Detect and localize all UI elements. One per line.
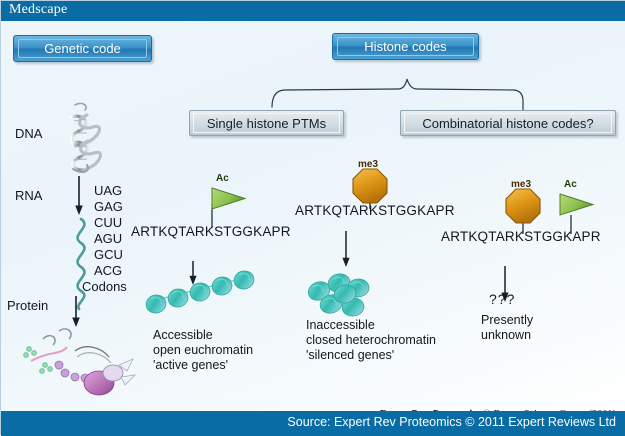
histone-codes-title-box[interactable]: Histone codes xyxy=(332,33,479,60)
combinatorial-histone-codes-box[interactable]: Combinatorial histone codes? xyxy=(400,110,616,136)
caption-combinatorial-line1: Presently xyxy=(481,313,533,328)
genetic-code-label: Genetic code xyxy=(44,42,121,56)
combinatorial-histone-codes-label: Combinatorial histone codes? xyxy=(422,116,593,131)
protein-label: Protein xyxy=(7,298,48,313)
dna-helix-illustration xyxy=(71,103,100,172)
methylation-octagon-icon-panel3 xyxy=(506,189,540,223)
dna-label: DNA xyxy=(15,126,42,141)
codon-2: GAG xyxy=(94,199,123,214)
euchromatin-down-arrow xyxy=(189,261,196,285)
sequence-heterochromatin: ARTKQTARKSTGGKAPR xyxy=(295,203,455,218)
caption-euchromatin-line2: open euchromatin xyxy=(153,343,253,358)
rna-label: RNA xyxy=(15,188,42,203)
codon-4: AGU xyxy=(94,231,122,246)
codons-caption: Codons xyxy=(82,279,127,294)
figure-root: Medscape xyxy=(0,0,625,435)
codon-6: ACG xyxy=(94,263,122,278)
protein-translation-illustration xyxy=(24,329,135,395)
single-histone-ptms-label: Single histone PTMs xyxy=(207,116,326,131)
rna-strand-illustration xyxy=(78,219,85,309)
medscape-logo-text: Medscape xyxy=(9,2,67,18)
genetic-code-title-box[interactable]: Genetic code xyxy=(13,35,152,62)
caption-combinatorial-line2: unknown xyxy=(481,328,531,343)
acetylation-flag-icon-panel1 xyxy=(212,188,245,209)
single-histone-ptms-box[interactable]: Single histone PTMs xyxy=(189,110,344,136)
acetylation-flag-icon-panel3 xyxy=(560,194,593,215)
codon-3: CUU xyxy=(94,215,122,230)
me3-octagon-label-panel2: me3 xyxy=(358,159,378,170)
histone-codes-brace xyxy=(272,79,523,111)
caption-heterochromatin-line2: closed heterochromatin xyxy=(306,333,436,348)
codon-1: UAG xyxy=(94,183,122,198)
euchromatin-nucleosomes-illustration xyxy=(144,269,256,315)
medscape-header-bar: Medscape xyxy=(1,1,625,21)
caption-euchromatin-line1: Accessible xyxy=(153,328,213,343)
diagram-canvas: Genetic code Histone codes Single histon… xyxy=(1,21,625,411)
source-text: Source: Expert Rev Proteomics © 2011 Exp… xyxy=(287,415,616,429)
methylation-octagon-icon-panel2 xyxy=(353,169,387,203)
heterochromatin-nucleosomes-illustration xyxy=(305,272,369,318)
ac-flag-label-panel1: Ac xyxy=(216,173,229,184)
dna-to-rna-arrow xyxy=(75,176,83,215)
me3-octagon-label-panel3: me3 xyxy=(511,179,531,190)
caption-heterochromatin-line1: Inaccessible xyxy=(306,318,375,333)
caption-euchromatin-line3: 'active genes' xyxy=(153,358,228,373)
rna-to-protein-arrow xyxy=(72,296,80,327)
sequence-combinatorial: ARTKQTARKSTGGKAPR xyxy=(441,229,601,244)
histone-codes-label: Histone codes xyxy=(364,40,446,54)
codon-5: GCU xyxy=(94,247,123,262)
sequence-euchromatin: ARTKQTARKSTGGKAPR xyxy=(131,224,291,239)
ac-flag-label-panel3: Ac xyxy=(564,179,577,190)
heterochromatin-down-arrow xyxy=(342,231,349,267)
caption-heterochromatin-line3: 'silenced genes' xyxy=(306,348,394,363)
question-marks-combinatorial: ??? xyxy=(489,291,515,307)
source-footer-bar: Source: Expert Rev Proteomics © 2011 Exp… xyxy=(1,411,625,436)
